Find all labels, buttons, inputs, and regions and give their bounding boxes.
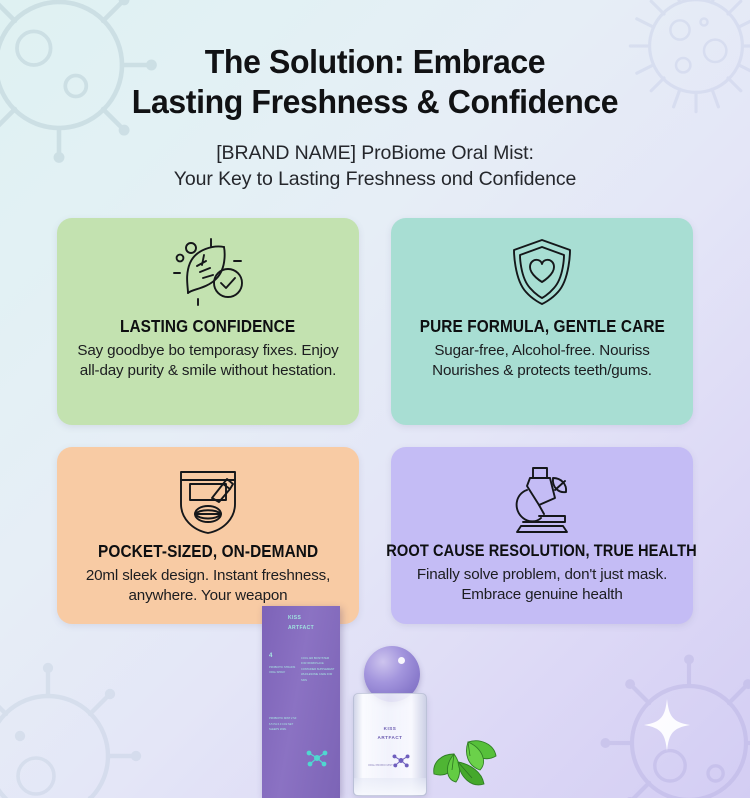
bottle-body: KISS ARTFACT ORAL PROBIO MIST	[353, 693, 427, 796]
pocket-spray-icon	[169, 463, 247, 537]
bottle-subtext: ORAL PROBIO MIST	[368, 763, 393, 769]
headline-line-1: The Solution: Embrace	[205, 43, 545, 80]
germ-icon	[0, 656, 148, 798]
bottle-brand-line-1: KISS	[384, 726, 397, 731]
sparkle-icon	[644, 699, 690, 756]
subhead-line-2: Your Key to Lasting Freshness ond Confid…	[0, 166, 750, 192]
page-title: The Solution: Embrace Lasting Freshness …	[11, 42, 739, 123]
box-brand-line-1: KISS	[288, 615, 301, 621]
benefit-card-body: Say goodbye bo temporasy fixes. Enjoy al…	[73, 341, 343, 381]
germ-icon	[594, 648, 750, 798]
molecule-icon	[392, 753, 410, 773]
benefit-card-lasting-confidence: LASTING CONFIDENCE Say goodbye bo tempor…	[57, 218, 359, 425]
microscope-leaf-icon	[503, 463, 581, 537]
shield-heart-icon	[506, 234, 578, 310]
benefit-card-grid: LASTING CONFIDENCE Say goodbye bo tempor…	[57, 218, 693, 624]
benefit-card-title: LASTING CONFIDENCE	[120, 316, 295, 337]
subhead-line-1: [BRAND NAME] ProBiome Oral Mist:	[216, 142, 534, 164]
bottle-brand-label: KISS ARTFACT	[354, 724, 426, 742]
bottle-brand-line-2: ARTFACT	[378, 735, 403, 740]
poster-canvas: The Solution: Embrace Lasting Freshness …	[0, 0, 750, 798]
box-col-a-number: 4	[269, 650, 297, 663]
box-brand-line-2: ARTFACT	[288, 625, 314, 631]
benefit-card-pure-formula: PURE FORMULA, GENTLE CARE Sugar-free, Al…	[391, 218, 693, 425]
product-box-column-b: COOL AIR BIOSYSTEM FOR WORKPLACE CONTAIN…	[301, 656, 335, 683]
benefit-card-title: PURE FORMULA, GENTLE CARE	[419, 316, 664, 337]
product-box: KISS ARTFACT 4 PROBIOTIC STRAINS ORAL SP…	[262, 606, 340, 798]
leaf-check-icon	[166, 234, 250, 310]
benefit-card-title: ROOT CAUSE RESOLUTION, TRUE HEALTH	[387, 541, 697, 561]
product-box-column-c: PROBIOTIC MINT 2 SF 6.5 PH 6.0 CO2 NET S…	[269, 716, 299, 733]
page-subtitle: [BRAND NAME] ProBiome Oral Mist: Your Ke…	[0, 140, 750, 193]
mint-leaves-icon	[424, 732, 520, 794]
headline-line-2: Lasting Freshness & Confidence	[11, 82, 739, 122]
box-col-a-text: PROBIOTIC STRAINS ORAL SPRAY	[269, 666, 295, 674]
product-bottle: KISS ARTFACT ORAL PROBIO MIST	[350, 646, 430, 796]
benefit-card-body: Sugar-free, Alcohol-free. Nouriss Nouris…	[407, 341, 677, 381]
benefit-card-title: POCKET-SIZED, ON-DEMAND	[98, 541, 318, 562]
product-box-column-a: 4 PROBIOTIC STRAINS ORAL SPRAY	[269, 650, 297, 675]
molecule-icon	[306, 749, 328, 772]
product-box-brand: KISS ARTFACT	[288, 614, 314, 633]
poster-header: The Solution: Embrace Lasting Freshness …	[0, 0, 750, 192]
